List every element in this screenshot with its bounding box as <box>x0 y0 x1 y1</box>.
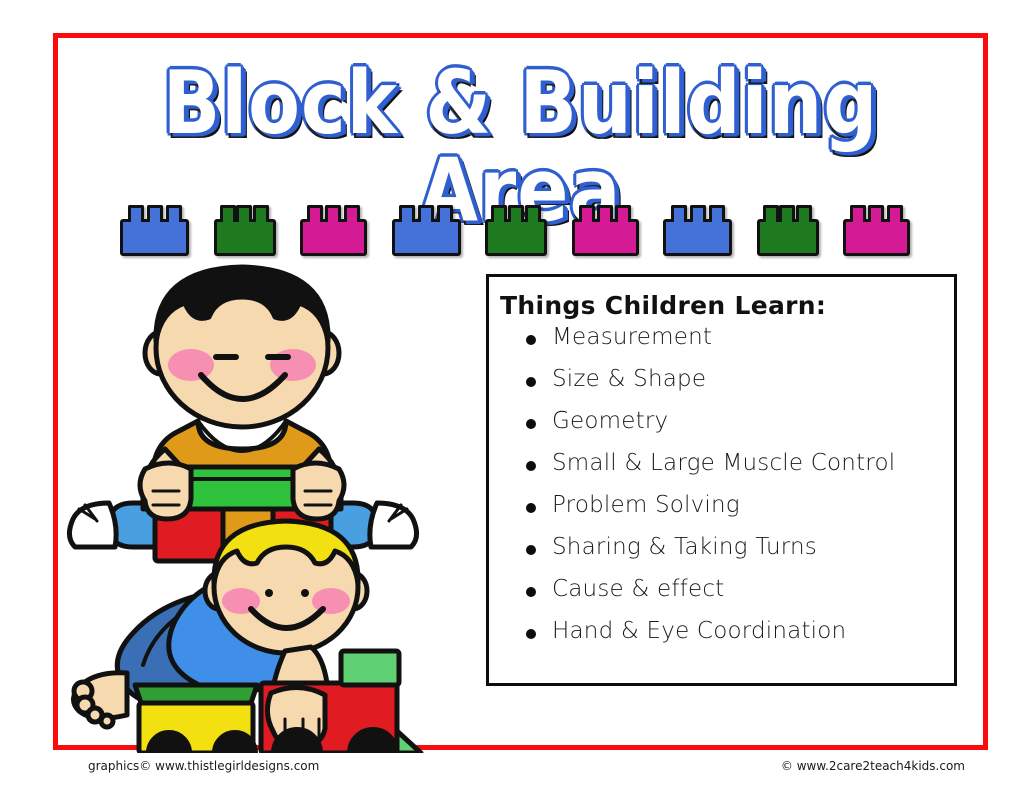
site-credit: © www.2care2teach4kids.com <box>781 759 965 773</box>
lego-block-2 <box>214 219 276 256</box>
yellow-train-car <box>135 685 257 753</box>
things-children-learn-box: Things Children Learn: Measurement Size … <box>486 274 957 686</box>
graphics-credit: graphics© www.thistlegirldesigns.com <box>88 759 319 773</box>
lego-stud-icon <box>525 205 541 222</box>
top-child-head <box>156 267 328 427</box>
lego-stud-icon <box>220 205 236 222</box>
lego-stud-icon <box>325 205 341 222</box>
bottom-child-hand <box>267 687 325 747</box>
learn-list: Measurement Size & Shape Geometry Small … <box>500 326 954 643</box>
lego-stud-icon <box>850 205 866 222</box>
lego-stud-icon <box>491 205 507 222</box>
lego-stud-icon <box>508 205 524 222</box>
bottom-child-shirt <box>169 571 320 693</box>
lego-stud-icon <box>690 205 706 222</box>
lego-studs <box>491 205 541 222</box>
lego-block-border <box>120 201 910 256</box>
lego-stud-icon <box>779 205 795 222</box>
lego-block-5 <box>485 219 547 256</box>
page-title-container: Block & Building Area <box>58 60 983 208</box>
lego-stud-icon <box>307 205 323 222</box>
lego-block-3 <box>300 219 367 256</box>
lego-stud-icon <box>763 205 779 222</box>
lego-block-8 <box>757 219 819 256</box>
train-wheels <box>148 729 397 753</box>
red-block-toy <box>155 505 331 561</box>
lego-stud-icon <box>868 205 884 222</box>
list-item: Hand & Eye Coordination <box>526 620 954 643</box>
learn-heading: Things Children Learn: <box>500 291 954 320</box>
green-block-toy <box>157 467 329 509</box>
lego-block-4 <box>392 219 461 256</box>
bottom-child-foot <box>73 673 127 727</box>
lego-block-1 <box>120 219 189 256</box>
red-train-car <box>261 651 421 753</box>
list-item: Cause & effect <box>526 578 954 601</box>
list-item: Size & Shape <box>526 368 954 391</box>
list-item: Problem Solving <box>526 494 954 517</box>
lego-stud-icon <box>344 205 360 222</box>
list-item: Sharing & Taking Turns <box>526 536 954 559</box>
lego-studs <box>398 205 455 222</box>
lego-stud-icon <box>253 205 269 222</box>
lego-studs <box>578 205 633 222</box>
lego-stud-icon <box>399 205 415 222</box>
lego-studs <box>669 205 726 222</box>
lego-block-7 <box>663 219 732 256</box>
lego-stud-icon <box>597 205 613 222</box>
list-item: Measurement <box>526 326 954 349</box>
lego-studs <box>306 205 361 222</box>
list-item: Small & Large Muscle Control <box>526 452 954 475</box>
lego-stud-icon <box>437 205 453 222</box>
lego-stud-icon <box>796 205 812 222</box>
top-child-shirt <box>153 421 331 505</box>
lego-stud-icon <box>579 205 595 222</box>
lego-stud-icon <box>128 205 144 222</box>
top-child-ears <box>145 332 339 374</box>
lego-block-9 <box>843 219 910 256</box>
poster-frame: Block & Building Area <box>53 33 988 750</box>
lego-studs <box>849 205 904 222</box>
lego-stud-icon <box>236 205 252 222</box>
lego-stud-icon <box>418 205 434 222</box>
children-playing-illustration <box>23 253 468 753</box>
bottom-child-head <box>214 521 358 653</box>
lego-block-6 <box>572 219 639 256</box>
top-child-hands <box>140 463 344 519</box>
lego-studs <box>126 205 183 222</box>
lego-studs <box>220 205 270 222</box>
lego-stud-icon <box>615 205 631 222</box>
bottom-child-ears <box>205 573 367 609</box>
top-child-legs <box>109 503 377 547</box>
bottom-child-arm <box>271 647 327 723</box>
lego-stud-icon <box>671 205 687 222</box>
top-child-arms <box>143 449 341 509</box>
lego-stud-icon <box>147 205 163 222</box>
top-child-shoes <box>69 503 416 547</box>
bottom-child-pants <box>117 589 273 706</box>
list-item: Geometry <box>526 410 954 433</box>
lego-studs <box>763 205 813 222</box>
lego-stud-icon <box>709 205 725 222</box>
lego-stud-icon <box>887 205 903 222</box>
shirt-bottom-panel <box>223 505 273 545</box>
lego-stud-icon <box>166 205 182 222</box>
